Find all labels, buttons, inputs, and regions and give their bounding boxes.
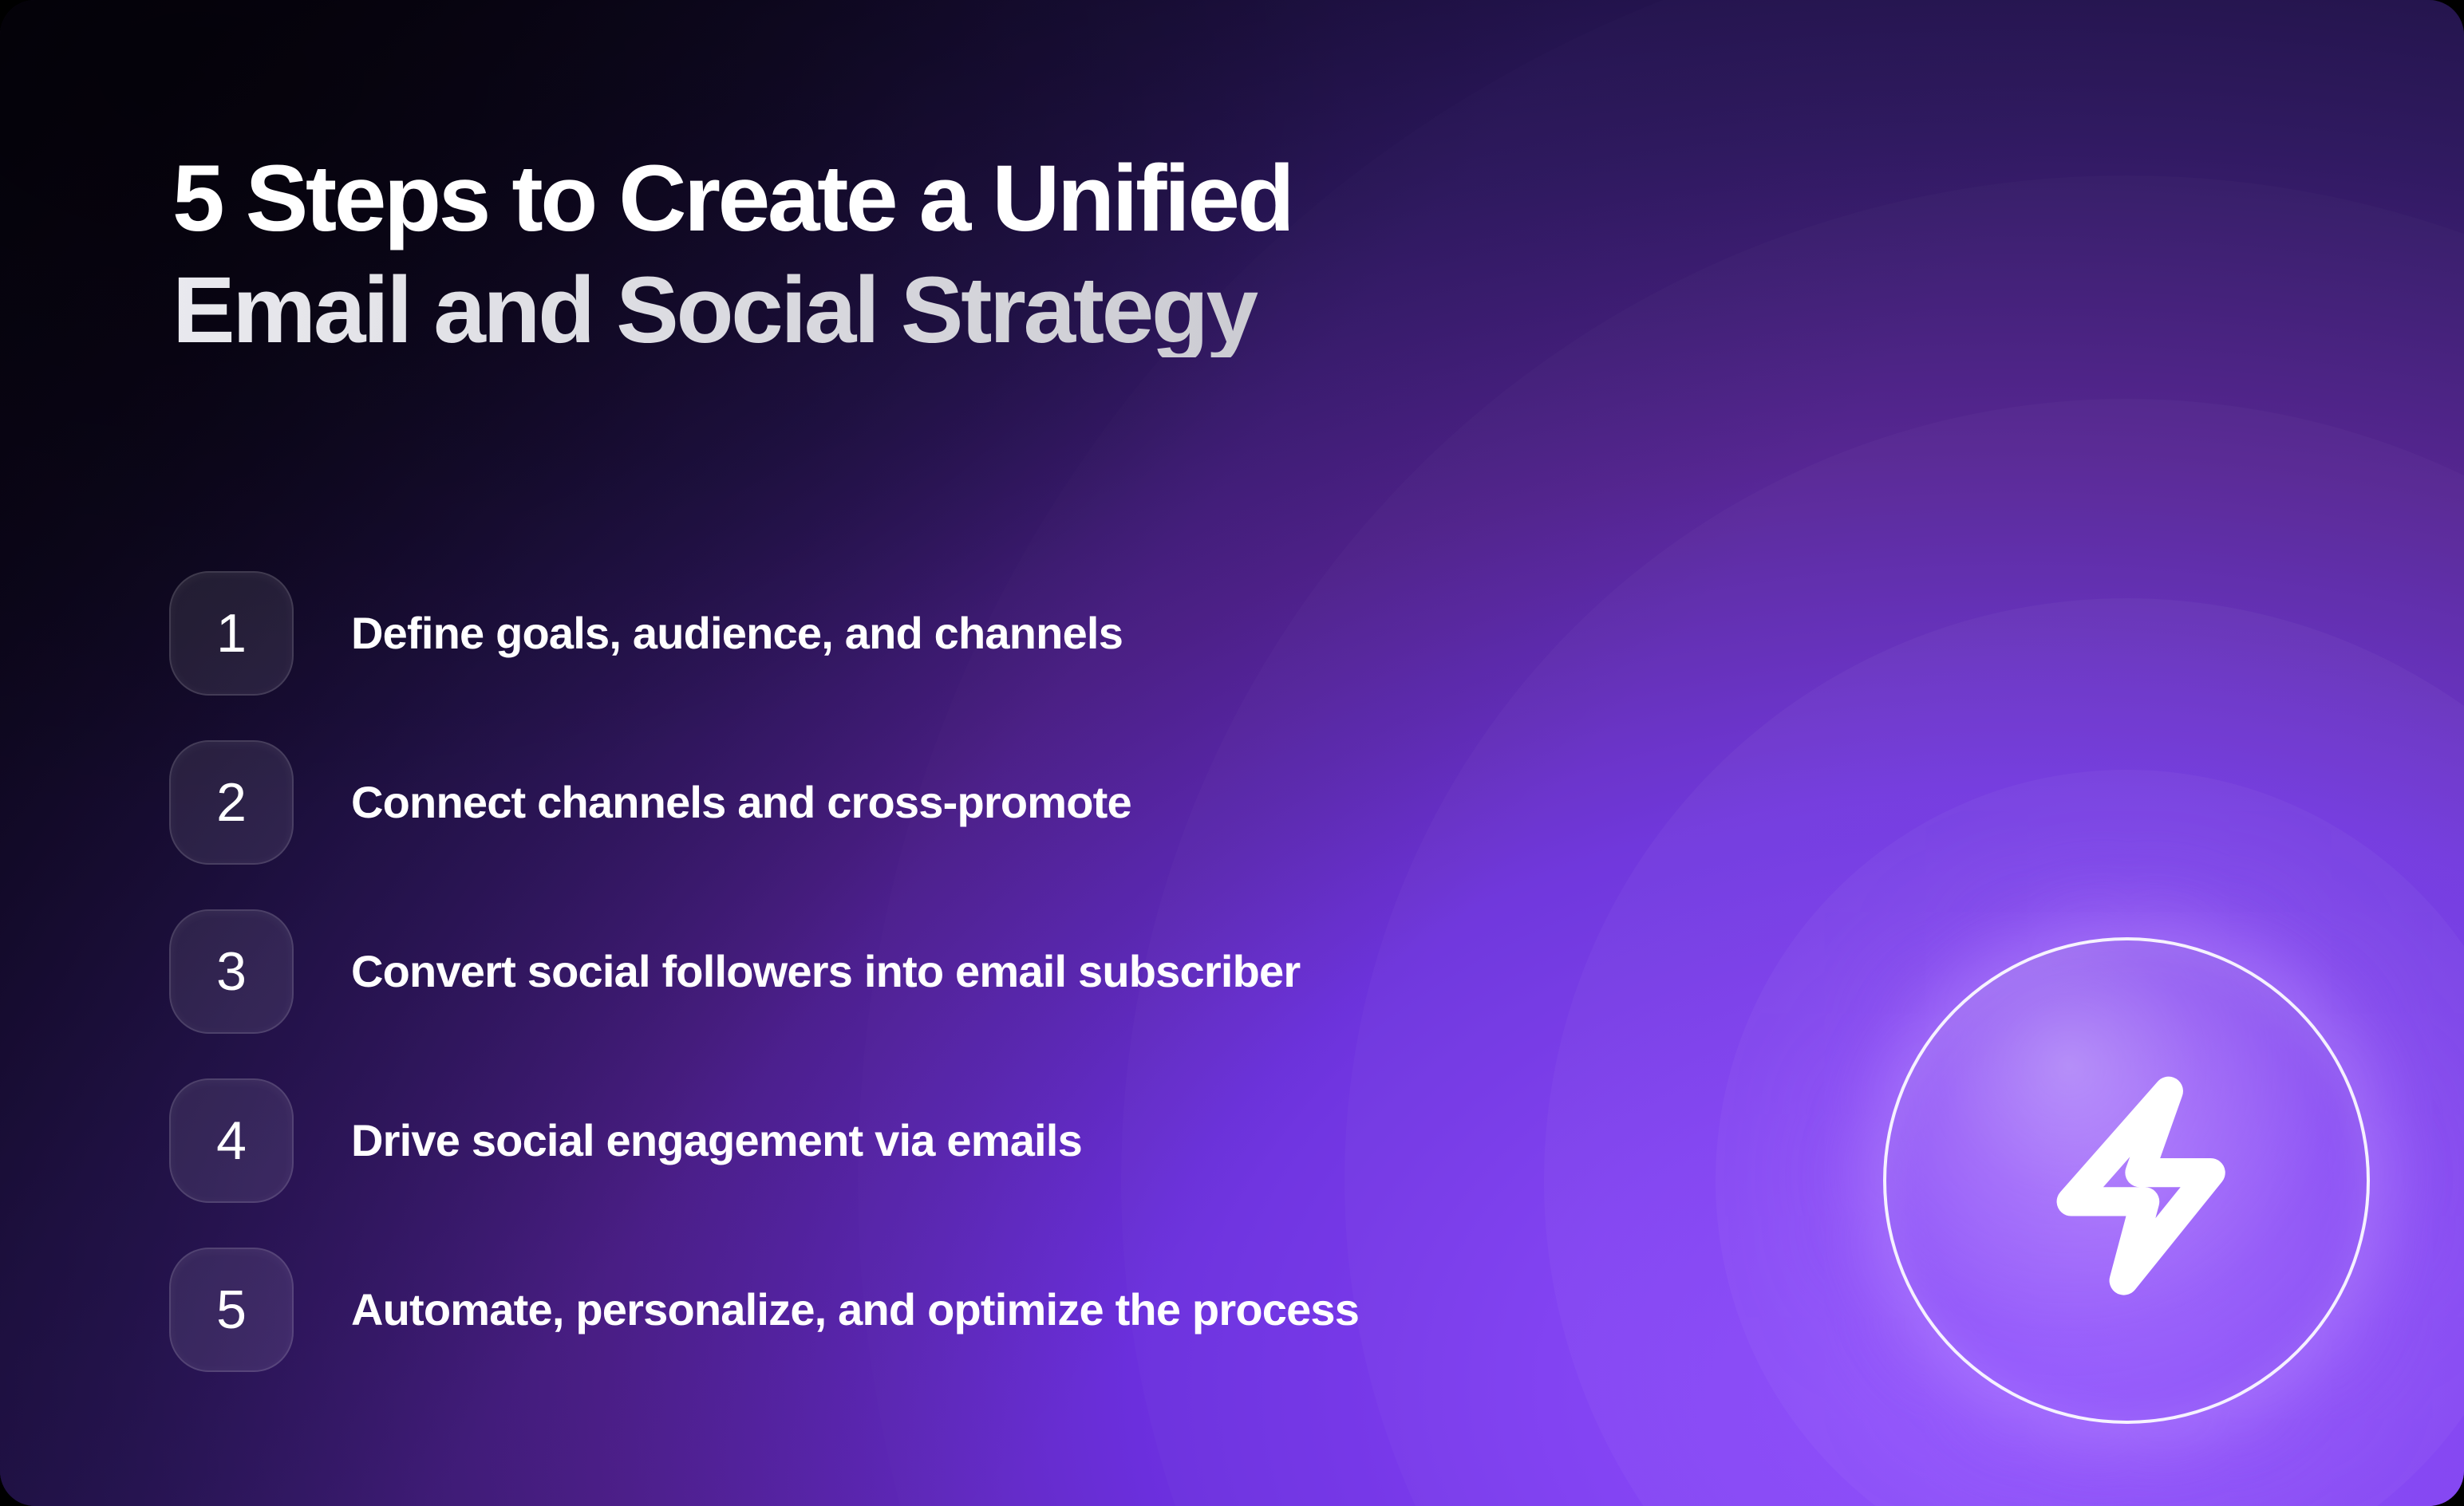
list-item: 2 Connect channels and cross-promote xyxy=(169,740,1845,865)
step-number-3: 3 xyxy=(216,944,247,999)
list-item: 5 Automate, personalize, and optimize th… xyxy=(169,1248,1845,1372)
step-label-3: Convert social followers into email subs… xyxy=(351,947,1300,996)
brand-icon-circle xyxy=(1883,937,2370,1424)
step-badge-1: 1 xyxy=(169,571,294,696)
step-badge-4: 4 xyxy=(169,1078,294,1203)
step-label-1: Define goals, audience, and channels xyxy=(351,609,1123,658)
step-label-2: Connect channels and cross-promote xyxy=(351,778,1131,827)
list-item: 4 Drive social engagement via emails xyxy=(169,1078,1845,1203)
title-line-primary: 5 Steps to Create a Unified xyxy=(172,152,2087,246)
step-badge-3: 3 xyxy=(169,909,294,1034)
list-item: 1 Define goals, audience, and channels xyxy=(169,571,1845,696)
page-title: 5 Steps to Create a Unified Email and So… xyxy=(172,152,2087,357)
step-number-4: 4 xyxy=(216,1114,247,1168)
title-line-secondary: Email and Social Strategy xyxy=(172,263,2087,357)
list-item: 3 Convert social followers into email su… xyxy=(169,909,1845,1034)
step-number-2: 2 xyxy=(216,775,247,830)
step-badge-2: 2 xyxy=(169,740,294,865)
step-number-1: 1 xyxy=(216,606,247,660)
steps-list: 1 Define goals, audience, and channels 2… xyxy=(169,571,1845,1372)
step-label-4: Drive social engagement via emails xyxy=(351,1116,1082,1165)
step-badge-5: 5 xyxy=(169,1248,294,1372)
step-number-5: 5 xyxy=(216,1283,247,1337)
lightning-bolt-icon xyxy=(1995,1049,2258,1312)
promo-card: 5 Steps to Create a Unified Email and So… xyxy=(0,0,2464,1506)
step-label-5: Automate, personalize, and optimize the … xyxy=(351,1285,1359,1335)
